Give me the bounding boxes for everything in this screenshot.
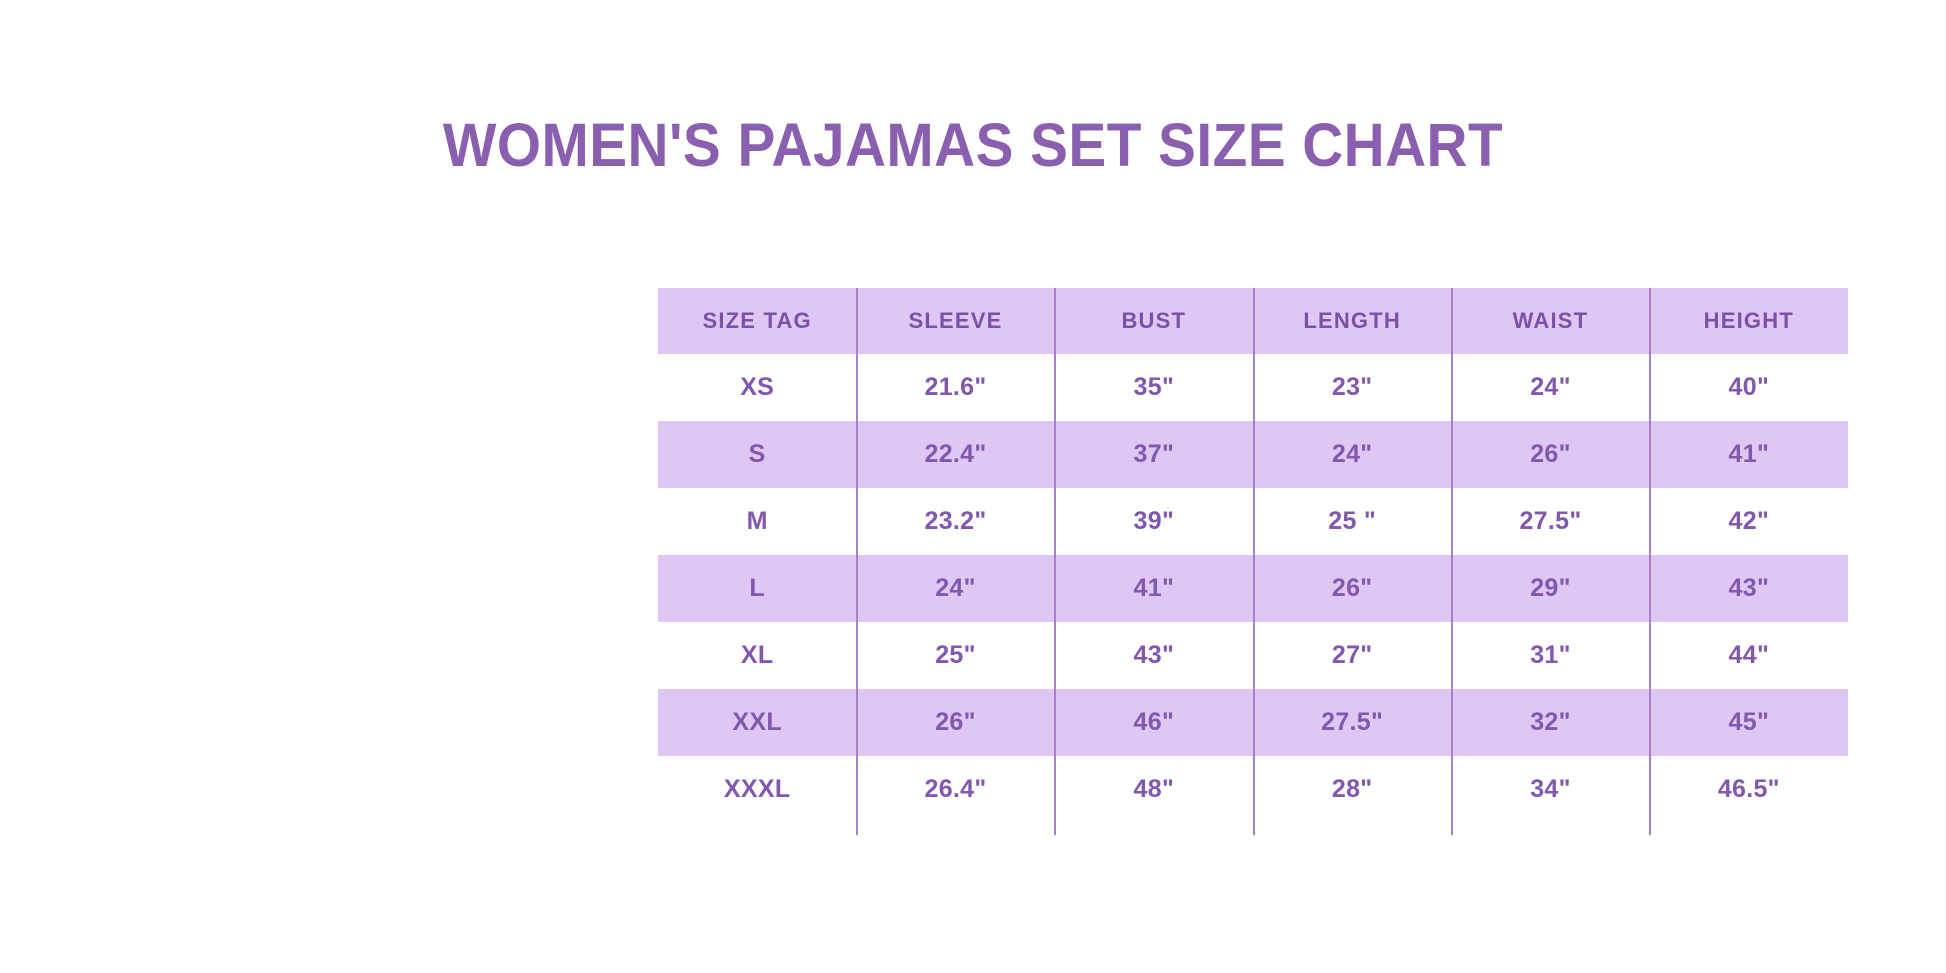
cell-bust: 46" xyxy=(1055,689,1253,756)
table-body: XS 21.6" 35" 23" 24" 40" S 22.4" 37" 24"… xyxy=(658,354,1848,823)
cell-size-tag: XXXL xyxy=(658,756,856,823)
cell-height: 44" xyxy=(1650,622,1848,689)
cell-sleeve: 24" xyxy=(856,555,1054,622)
cell-length: 27.5" xyxy=(1253,689,1451,756)
cell-size-tag: M xyxy=(658,488,856,555)
cell-bust: 37" xyxy=(1055,421,1253,488)
cell-length: 25 " xyxy=(1253,488,1451,555)
column-header-sleeve: SLEEVE xyxy=(856,288,1054,354)
cell-height: 41" xyxy=(1650,421,1848,488)
cell-bust: 48" xyxy=(1055,756,1253,823)
cell-length: 24" xyxy=(1253,421,1451,488)
cell-size-tag: XL xyxy=(658,622,856,689)
column-header-height: HEIGHT xyxy=(1650,288,1848,354)
cell-size-tag: XS xyxy=(658,354,856,421)
table-row: S 22.4" 37" 24" 26" 41" xyxy=(658,421,1848,488)
cell-waist: 29" xyxy=(1451,555,1649,622)
cell-sleeve: 25" xyxy=(856,622,1054,689)
column-header-bust: BUST xyxy=(1055,288,1253,354)
cell-sleeve: 23.2" xyxy=(856,488,1054,555)
size-chart-page: WOMEN'S PAJAMAS SET SIZE CHART SIZE TAG … xyxy=(0,0,1946,973)
cell-height: 43" xyxy=(1650,555,1848,622)
cell-waist: 34" xyxy=(1451,756,1649,823)
cell-size-tag: L xyxy=(658,555,856,622)
cell-size-tag: XXL xyxy=(658,689,856,756)
cell-height: 45" xyxy=(1650,689,1848,756)
cell-sleeve: 26.4" xyxy=(856,756,1054,823)
column-header-length: LENGTH xyxy=(1253,288,1451,354)
cell-waist: 24" xyxy=(1451,354,1649,421)
cell-height: 42" xyxy=(1650,488,1848,555)
cell-bust: 39" xyxy=(1055,488,1253,555)
size-chart-table: SIZE TAG SLEEVE BUST LENGTH WAIST HEIGHT… xyxy=(658,288,1848,823)
cell-sleeve: 26" xyxy=(856,689,1054,756)
table-row: XS 21.6" 35" 23" 24" 40" xyxy=(658,354,1848,421)
table-row: XXXL 26.4" 48" 28" 34" 46.5" xyxy=(658,756,1848,823)
cell-length: 28" xyxy=(1253,756,1451,823)
table-header: SIZE TAG SLEEVE BUST LENGTH WAIST HEIGHT xyxy=(658,288,1848,354)
cell-sleeve: 21.6" xyxy=(856,354,1054,421)
cell-length: 26" xyxy=(1253,555,1451,622)
cell-sleeve: 22.4" xyxy=(856,421,1054,488)
cell-bust: 35" xyxy=(1055,354,1253,421)
table-row: L 24" 41" 26" 29" 43" xyxy=(658,555,1848,622)
table-row: XL 25" 43" 27" 31" 44" xyxy=(658,622,1848,689)
table-row: M 23.2" 39" 25 " 27.5" 42" xyxy=(658,488,1848,555)
cell-length: 23" xyxy=(1253,354,1451,421)
column-header-size-tag: SIZE TAG xyxy=(658,288,856,354)
cell-waist: 26" xyxy=(1451,421,1649,488)
size-chart-table-container: SIZE TAG SLEEVE BUST LENGTH WAIST HEIGHT… xyxy=(658,288,1848,823)
cell-size-tag: S xyxy=(658,421,856,488)
cell-bust: 43" xyxy=(1055,622,1253,689)
cell-height: 40" xyxy=(1650,354,1848,421)
table-row: XXL 26" 46" 27.5" 32" 45" xyxy=(658,689,1848,756)
cell-waist: 27.5" xyxy=(1451,488,1649,555)
cell-waist: 32" xyxy=(1451,689,1649,756)
cell-height: 46.5" xyxy=(1650,756,1848,823)
cell-length: 27" xyxy=(1253,622,1451,689)
column-header-waist: WAIST xyxy=(1451,288,1649,354)
cell-waist: 31" xyxy=(1451,622,1649,689)
cell-bust: 41" xyxy=(1055,555,1253,622)
page-title: WOMEN'S PAJAMAS SET SIZE CHART xyxy=(68,113,1878,177)
table-header-row: SIZE TAG SLEEVE BUST LENGTH WAIST HEIGHT xyxy=(658,288,1848,354)
